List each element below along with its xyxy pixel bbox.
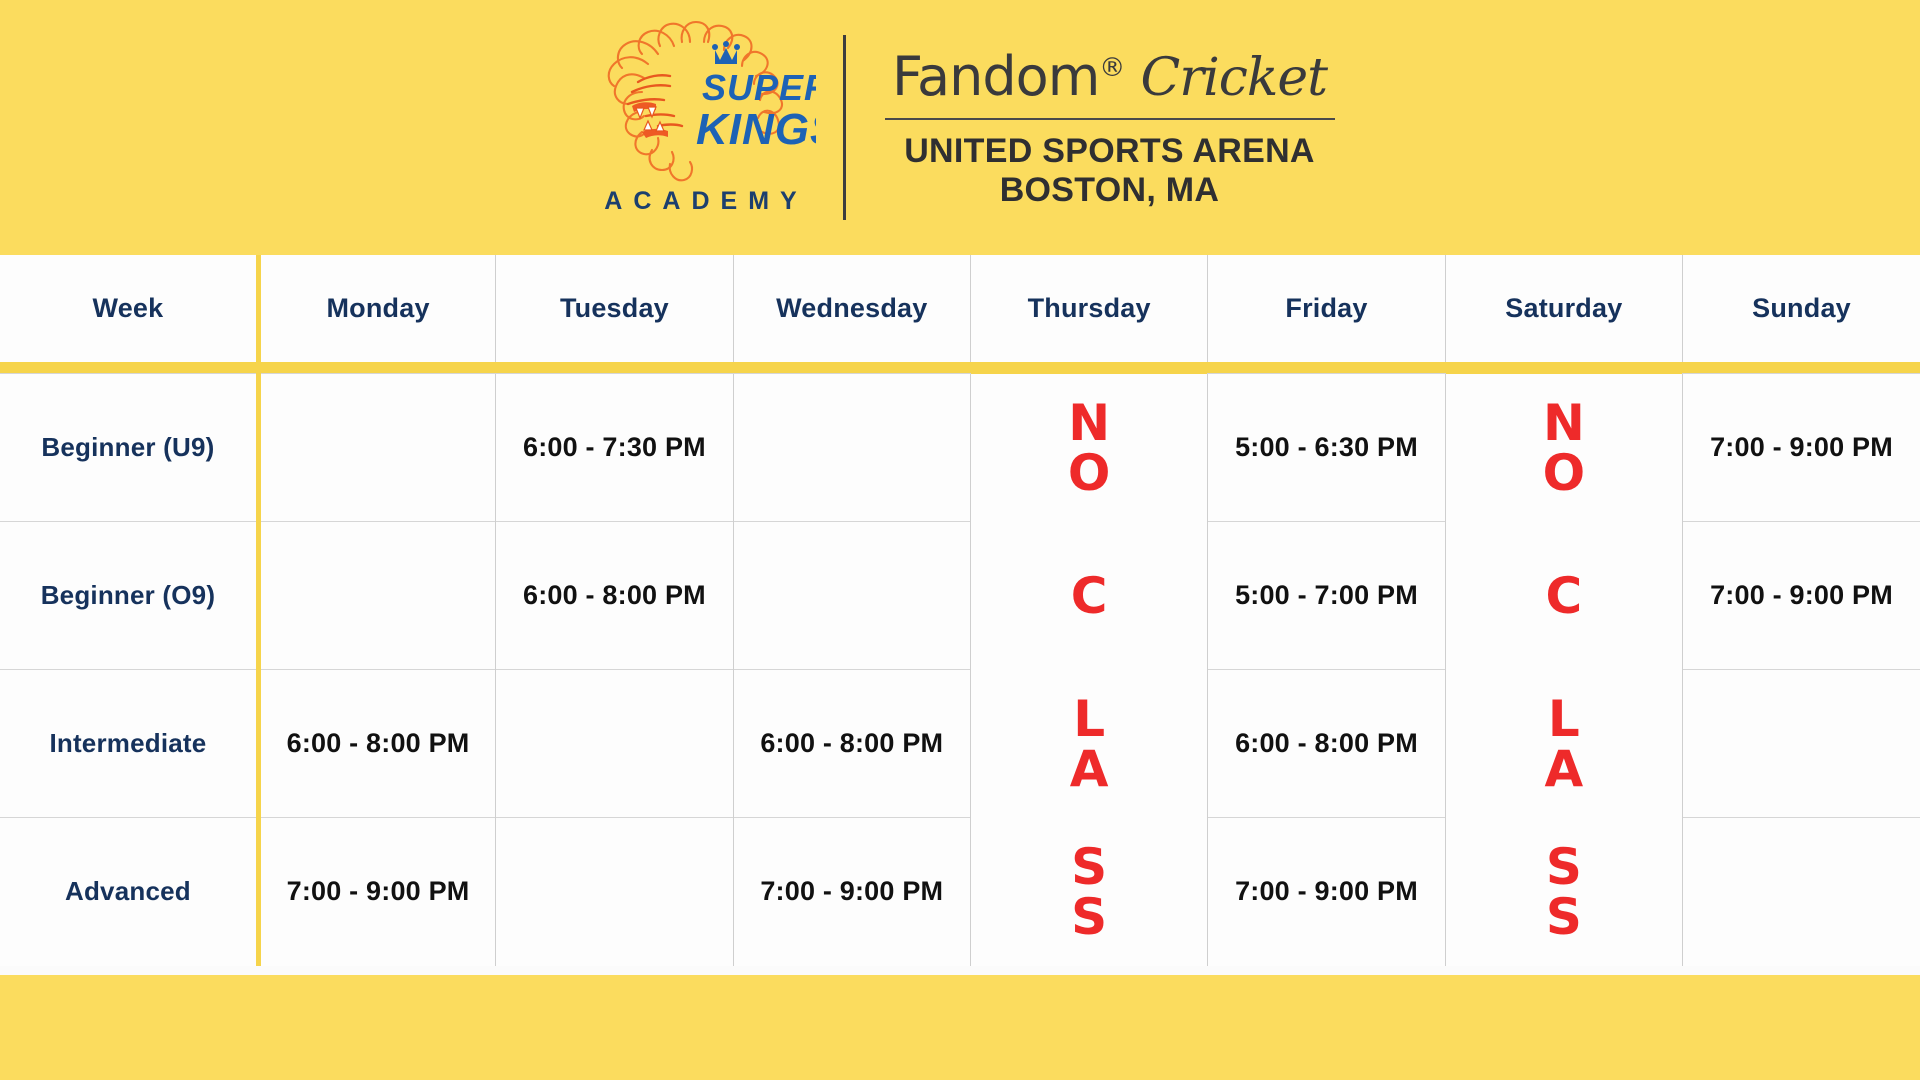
- footer-bar: [0, 975, 1920, 1080]
- cell-advanced-tuesday: [496, 818, 733, 966]
- registered-mark: ®: [1099, 53, 1124, 83]
- venue-line-1: UNITED SPORTS ARENA: [904, 132, 1315, 171]
- table-row: Advanced 7:00 - 9:00 PM 7:00 - 9:00 PM S…: [0, 818, 1920, 966]
- no-class-letter: A: [1446, 744, 1682, 794]
- column-header-thursday: Thursday: [970, 255, 1207, 362]
- cell-intermediate-friday: 6:00 - 8:00 PM: [1208, 670, 1445, 818]
- cell-beginner-u9-tuesday: 6:00 - 7:30 PM: [496, 374, 733, 522]
- column-header-monday: Monday: [258, 255, 495, 362]
- venue-line-2: BOSTON, MA: [904, 171, 1315, 210]
- academy-logo: SUPER KINGS ACADEMY: [581, 20, 821, 235]
- cricket-word: Cricket: [1140, 48, 1327, 108]
- column-header-week: Week: [0, 255, 258, 362]
- cell-advanced-friday: 7:00 - 9:00 PM: [1208, 818, 1445, 966]
- cell-advanced-saturday: S S: [1445, 818, 1682, 966]
- no-class-letter: N: [971, 398, 1207, 448]
- header-banner: SUPER KINGS ACADEMY Fandom® Cricket UNIT…: [0, 0, 1920, 255]
- no-class-letter: O: [1446, 448, 1682, 498]
- column-header-friday: Friday: [1208, 255, 1445, 362]
- table-row: Beginner (O9) 6:00 - 8:00 PM C 5:00 - 7:…: [0, 522, 1920, 670]
- row-label-beginner-o9: Beginner (O9): [0, 522, 258, 670]
- column-header-saturday: Saturday: [1445, 255, 1682, 362]
- table-body: Beginner (U9) 6:00 - 7:30 PM N O 5:00 - …: [0, 362, 1920, 966]
- cell-advanced-thursday: S S: [970, 818, 1207, 966]
- cell-beginner-o9-monday: [258, 522, 495, 670]
- header-row: Week Monday Tuesday Wednesday Thursday F…: [0, 255, 1920, 362]
- fandom-word: Fandom: [892, 45, 1099, 108]
- cell-intermediate-monday: 6:00 - 8:00 PM: [258, 670, 495, 818]
- cell-beginner-o9-saturday: C: [1445, 522, 1682, 670]
- no-class-letter: N: [1446, 398, 1682, 448]
- schedule-page: SUPER KINGS ACADEMY Fandom® Cricket UNIT…: [0, 0, 1920, 1080]
- column-header-sunday: Sunday: [1683, 255, 1920, 362]
- header-divider: [843, 35, 846, 220]
- no-class-letter: O: [971, 448, 1207, 498]
- cell-advanced-wednesday: 7:00 - 9:00 PM: [733, 818, 970, 966]
- header-yellow-divider: [0, 362, 1920, 374]
- cell-intermediate-thursday: L A: [970, 670, 1207, 818]
- cell-beginner-o9-thursday: C: [970, 522, 1207, 670]
- cell-beginner-u9-wednesday: [733, 374, 970, 522]
- cell-intermediate-sunday: [1683, 670, 1920, 818]
- venue-title-block: Fandom® Cricket UNITED SPORTS ARENA BOST…: [880, 45, 1340, 210]
- table-header: Week Monday Tuesday Wednesday Thursday F…: [0, 255, 1920, 362]
- title-underline: [885, 118, 1335, 120]
- cell-intermediate-wednesday: 6:00 - 8:00 PM: [733, 670, 970, 818]
- no-class-letter: S: [1446, 842, 1682, 892]
- cell-beginner-u9-friday: 5:00 - 6:30 PM: [1208, 374, 1445, 522]
- cell-beginner-u9-sunday: 7:00 - 9:00 PM: [1683, 374, 1920, 522]
- cell-beginner-o9-wednesday: [733, 522, 970, 670]
- cell-beginner-o9-tuesday: 6:00 - 8:00 PM: [496, 522, 733, 670]
- svg-text:KINGS: KINGS: [696, 105, 816, 154]
- cell-beginner-u9-monday: [258, 374, 495, 522]
- no-class-letter: C: [971, 571, 1207, 621]
- row-label-beginner-u9: Beginner (U9): [0, 374, 258, 522]
- no-class-letter: S: [971, 892, 1207, 942]
- no-class-letter: S: [971, 842, 1207, 892]
- cell-advanced-monday: 7:00 - 9:00 PM: [258, 818, 495, 966]
- no-class-letter: S: [1446, 892, 1682, 942]
- lion-logo-icon: SUPER KINGS: [586, 20, 816, 185]
- column-header-tuesday: Tuesday: [496, 255, 733, 362]
- academy-wordmark: ACADEMY: [593, 187, 807, 216]
- table-row: Beginner (U9) 6:00 - 7:30 PM N O 5:00 - …: [0, 374, 1920, 522]
- yellow-rule-cell: [0, 362, 1920, 374]
- no-class-letter: C: [1446, 571, 1682, 621]
- row-label-intermediate: Intermediate: [0, 670, 258, 818]
- svg-text:SUPER: SUPER: [702, 67, 816, 108]
- table-row: Intermediate 6:00 - 8:00 PM 6:00 - 8:00 …: [0, 670, 1920, 818]
- cell-beginner-u9-saturday: N O: [1445, 374, 1682, 522]
- column-header-wednesday: Wednesday: [733, 255, 970, 362]
- no-class-letter: L: [1446, 694, 1682, 744]
- schedule-table: Week Monday Tuesday Wednesday Thursday F…: [0, 255, 1920, 966]
- cell-beginner-u9-thursday: N O: [970, 374, 1207, 522]
- fandom-cricket-title: Fandom® Cricket: [892, 45, 1327, 108]
- cell-intermediate-tuesday: [496, 670, 733, 818]
- cell-advanced-sunday: [1683, 818, 1920, 966]
- cell-beginner-o9-sunday: 7:00 - 9:00 PM: [1683, 522, 1920, 670]
- no-class-letter: A: [971, 744, 1207, 794]
- venue-name: UNITED SPORTS ARENA BOSTON, MA: [904, 132, 1315, 210]
- cell-intermediate-saturday: L A: [1445, 670, 1682, 818]
- no-class-letter: L: [971, 694, 1207, 744]
- cell-beginner-o9-friday: 5:00 - 7:00 PM: [1208, 522, 1445, 670]
- row-label-advanced: Advanced: [0, 818, 258, 966]
